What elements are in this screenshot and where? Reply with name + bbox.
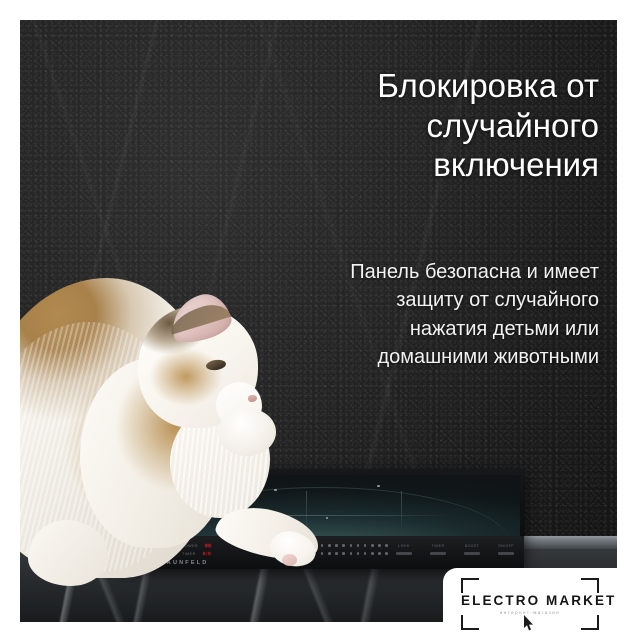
subtext-line-1: Панель безопасна и имеет [259, 258, 599, 286]
touch-key-label: LOCK [398, 544, 409, 548]
slider-dot[interactable] [321, 552, 324, 555]
glass-glint [377, 485, 380, 487]
slider-dot[interactable] [357, 544, 360, 547]
touch-key-label: ON/OFF [498, 544, 514, 548]
cooking-zone-mark: · · · · · [330, 509, 344, 513]
slider-dot[interactable] [328, 544, 331, 547]
frame-corner-top-right [581, 578, 599, 593]
cat-hind-leg [28, 520, 108, 586]
slider-dot[interactable] [321, 544, 324, 547]
slider-dot[interactable] [328, 552, 331, 555]
product-photo: · · · · · · · · · ⬢ MAUNFELD POWER 88 TI… [20, 20, 617, 622]
headline-line-3: включения [269, 145, 599, 185]
touch-key-bar[interactable] [430, 552, 446, 555]
slider-dot[interactable] [378, 552, 381, 555]
touch-key-bar[interactable] [464, 552, 480, 555]
slider-dot[interactable] [385, 544, 388, 547]
page-title: Блокировка от случайного включения [269, 66, 599, 185]
headline-line-1: Блокировка от [269, 66, 599, 106]
touch-key-bar[interactable] [498, 552, 514, 555]
brand-logo-card[interactable]: ELECTRO MARKET интернет-магазин [443, 568, 617, 640]
slider-dot[interactable] [342, 552, 345, 555]
logo-name: ELECTRO MARKET [461, 593, 599, 608]
logo-frame: ELECTRO MARKET интернет-магазин [461, 578, 599, 630]
slider-dot[interactable] [342, 544, 345, 547]
touch-key-group[interactable]: LOCK TIMER BOOST ON/OFF [396, 544, 514, 555]
slider-dot[interactable] [364, 544, 367, 547]
slider-dot[interactable] [371, 552, 374, 555]
subtext-line-2: защиту от случайного [259, 286, 599, 314]
cat-paw-pad [282, 554, 297, 566]
glass-glint [326, 517, 328, 519]
cat-chin-fur [218, 408, 276, 456]
slider-dot[interactable] [385, 552, 388, 555]
touch-key-onoff[interactable]: ON/OFF [498, 544, 514, 555]
cooking-zone-divider [401, 491, 402, 527]
frame-corner-bottom-left [461, 615, 479, 630]
touch-key-bar[interactable] [396, 552, 412, 555]
touch-key-label: TIMER [431, 544, 444, 548]
subtext-line-3: нажатия детьми или [259, 315, 599, 343]
frame-corner-bottom-right [581, 615, 599, 630]
slider-dot[interactable] [335, 544, 338, 547]
slider-dot[interactable] [364, 552, 367, 555]
slider-dot[interactable] [350, 544, 353, 547]
slider-dot[interactable] [350, 552, 353, 555]
mouse-pointer-icon [523, 615, 534, 631]
description-text: Панель безопасна и имеет защиту от случа… [259, 258, 599, 372]
subtext-line-4: домашними животными [259, 343, 599, 371]
touch-key-timer[interactable]: TIMER [430, 544, 446, 555]
promo-banner: · · · · · · · · · ⬢ MAUNFELD POWER 88 TI… [0, 0, 640, 640]
slider-dot[interactable] [371, 544, 374, 547]
slider-dot[interactable] [357, 552, 360, 555]
slider-dot[interactable] [378, 544, 381, 547]
touch-key-label: BOOST [465, 544, 479, 548]
slider-dot[interactable] [335, 552, 338, 555]
touch-key-lock[interactable]: LOCK [396, 544, 412, 555]
frame-corner-top-left [461, 578, 479, 593]
touch-key-boost[interactable]: BOOST [464, 544, 480, 555]
cat-photo-subject [20, 188, 310, 578]
headline-line-2: случайного [269, 106, 599, 146]
